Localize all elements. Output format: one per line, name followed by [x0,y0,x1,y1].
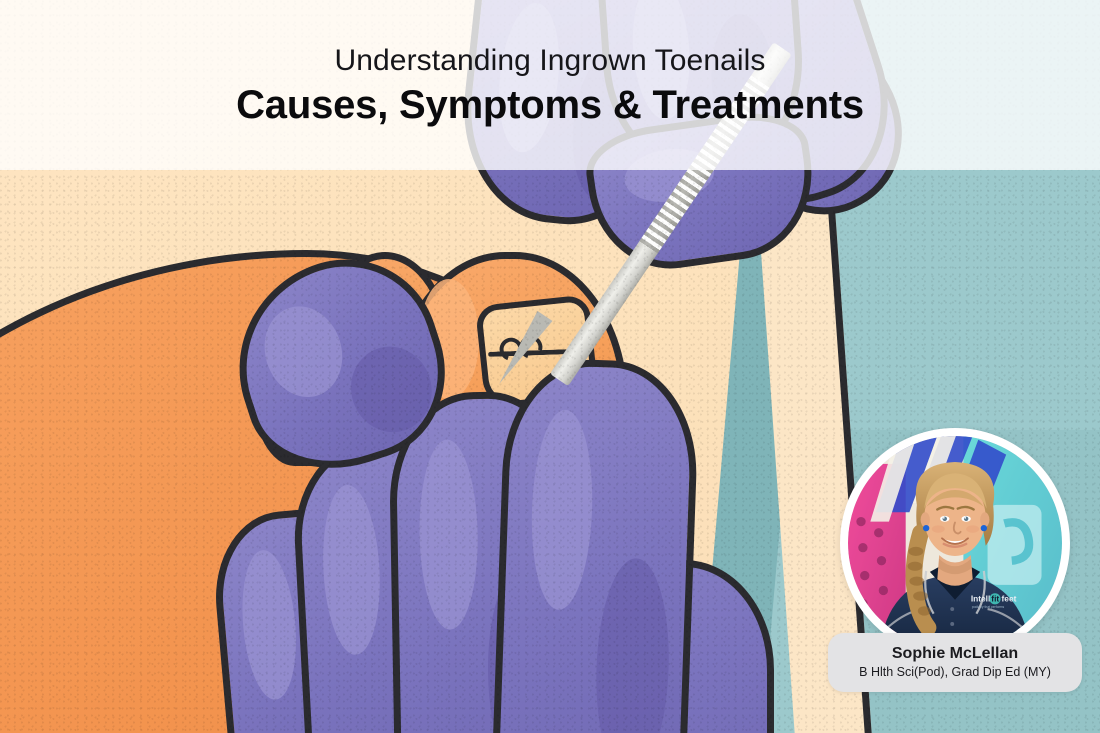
avatar: Intelli fit feet podiatry that performs [840,428,1070,658]
glove-highlight [253,296,354,407]
glove-shadow [593,557,673,733]
glove-highlight [319,484,384,657]
gloved-finger-4 [490,357,700,733]
svg-text:fit: fit [991,594,999,604]
title-banner: Understanding Ingrown Toenails Causes, S… [0,0,1100,170]
glove-highlight [237,548,302,702]
page-title: Causes, Symptoms & Treatments [236,83,864,127]
svg-text:podiatry that performs: podiatry that performs [972,605,1005,609]
author-badge: Intelli fit feet podiatry that performs [828,428,1082,692]
svg-text:feet: feet [1002,594,1017,604]
promo-banner: Understanding Ingrown Toenails Causes, S… [0,0,1100,733]
author-credentials: B Hlth Sci(Pod), Grad Dip Ed (MY) [859,664,1051,681]
author-namecard: Sophie McLellan B Hlth Sci(Pod), Grad Di… [828,633,1082,692]
svg-text:Intelli: Intelli [971,594,993,604]
author-name: Sophie McLellan [892,644,1018,663]
glove-highlight [529,409,596,611]
kicker-text: Understanding Ingrown Toenails [334,44,765,77]
glove-shadow [340,336,443,443]
glove-highlight [418,439,479,630]
